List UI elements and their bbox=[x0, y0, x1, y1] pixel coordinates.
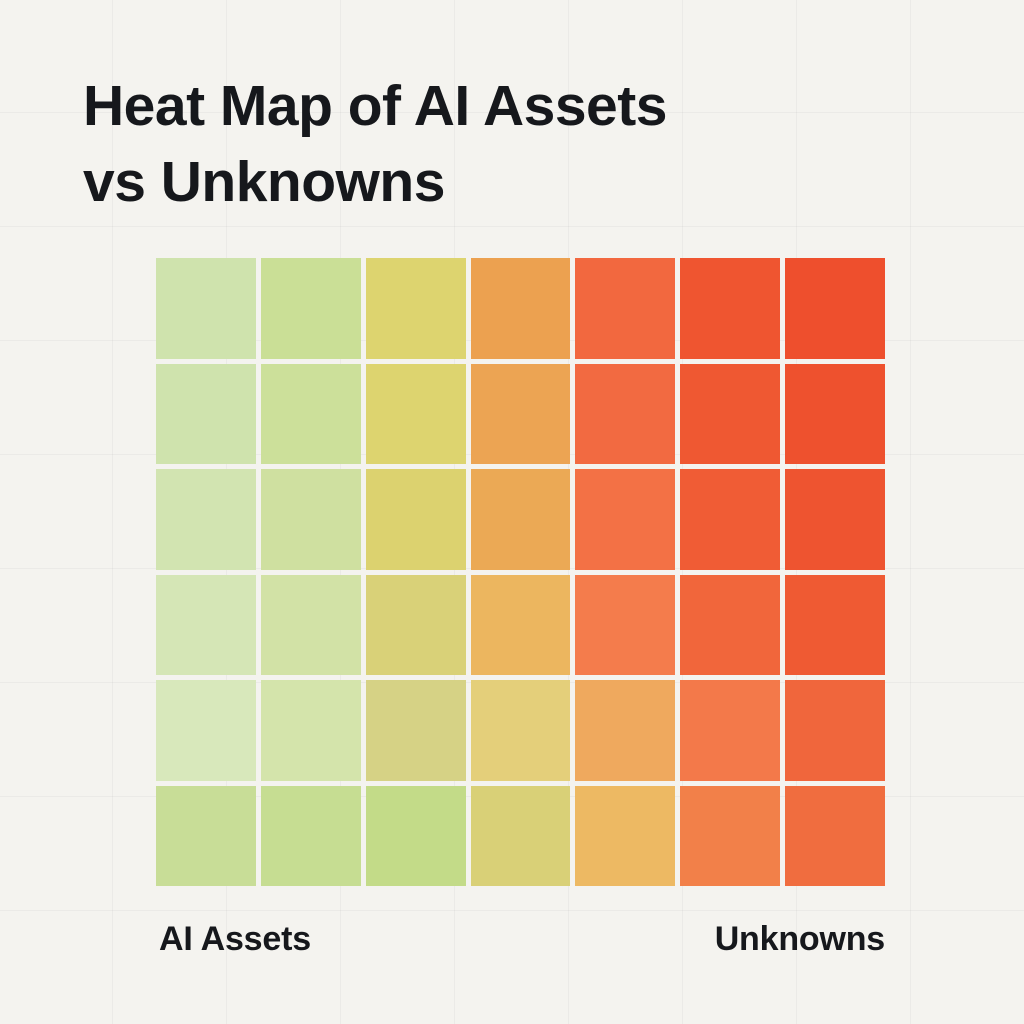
heatmap-cell bbox=[471, 364, 571, 465]
heatmap-cell bbox=[156, 258, 256, 359]
heatmap-cell bbox=[366, 258, 466, 359]
chart-canvas: Heat Map of AI Assets vs Unknowns AI Ass… bbox=[0, 0, 1024, 1024]
heatmap-cell bbox=[785, 575, 885, 676]
heatmap-cell bbox=[156, 786, 256, 887]
axis-label-unknowns: Unknowns bbox=[185, 920, 885, 959]
heatmap-cell bbox=[575, 469, 675, 570]
heatmap-cell bbox=[156, 469, 256, 570]
heatmap-cell bbox=[471, 786, 571, 887]
heatmap-cell bbox=[261, 258, 361, 359]
heatmap-cell bbox=[366, 786, 466, 887]
heatmap-cell bbox=[680, 258, 780, 359]
heatmap-cell bbox=[785, 680, 885, 781]
heatmap-cell bbox=[366, 680, 466, 781]
heatmap-cell bbox=[680, 680, 780, 781]
heatmap-cell bbox=[575, 680, 675, 781]
heatmap-cell bbox=[575, 258, 675, 359]
heatmap-cell bbox=[366, 575, 466, 676]
heatmap-cell bbox=[156, 575, 256, 676]
heatmap-cell bbox=[261, 469, 361, 570]
heatmap-cell bbox=[680, 575, 780, 676]
heatmap-cell bbox=[261, 364, 361, 465]
heatmap-cell bbox=[680, 469, 780, 570]
heatmap-cell bbox=[471, 258, 571, 359]
heatmap-cell bbox=[785, 258, 885, 359]
heatmap-cell bbox=[471, 575, 571, 676]
heatmap-cell bbox=[261, 680, 361, 781]
heatmap-cell bbox=[575, 364, 675, 465]
heatmap-cell bbox=[366, 469, 466, 570]
heatmap-cell bbox=[156, 680, 256, 781]
heatmap-cell bbox=[366, 364, 466, 465]
heatmap-cell bbox=[680, 786, 780, 887]
heatmap-cell bbox=[680, 364, 780, 465]
heatmap-cell bbox=[785, 469, 885, 570]
heatmap-cell bbox=[575, 786, 675, 887]
heatmap-cell bbox=[156, 364, 256, 465]
page-title: Heat Map of AI Assets vs Unknowns bbox=[83, 69, 883, 221]
heatmap-cell bbox=[261, 786, 361, 887]
heatmap-cell bbox=[471, 469, 571, 570]
heatmap-cell bbox=[575, 575, 675, 676]
heatmap-cell bbox=[471, 680, 571, 781]
heatmap-cell bbox=[785, 786, 885, 887]
heatmap-cell bbox=[785, 364, 885, 465]
heatmap-cell bbox=[261, 575, 361, 676]
heatmap-grid bbox=[156, 258, 885, 886]
